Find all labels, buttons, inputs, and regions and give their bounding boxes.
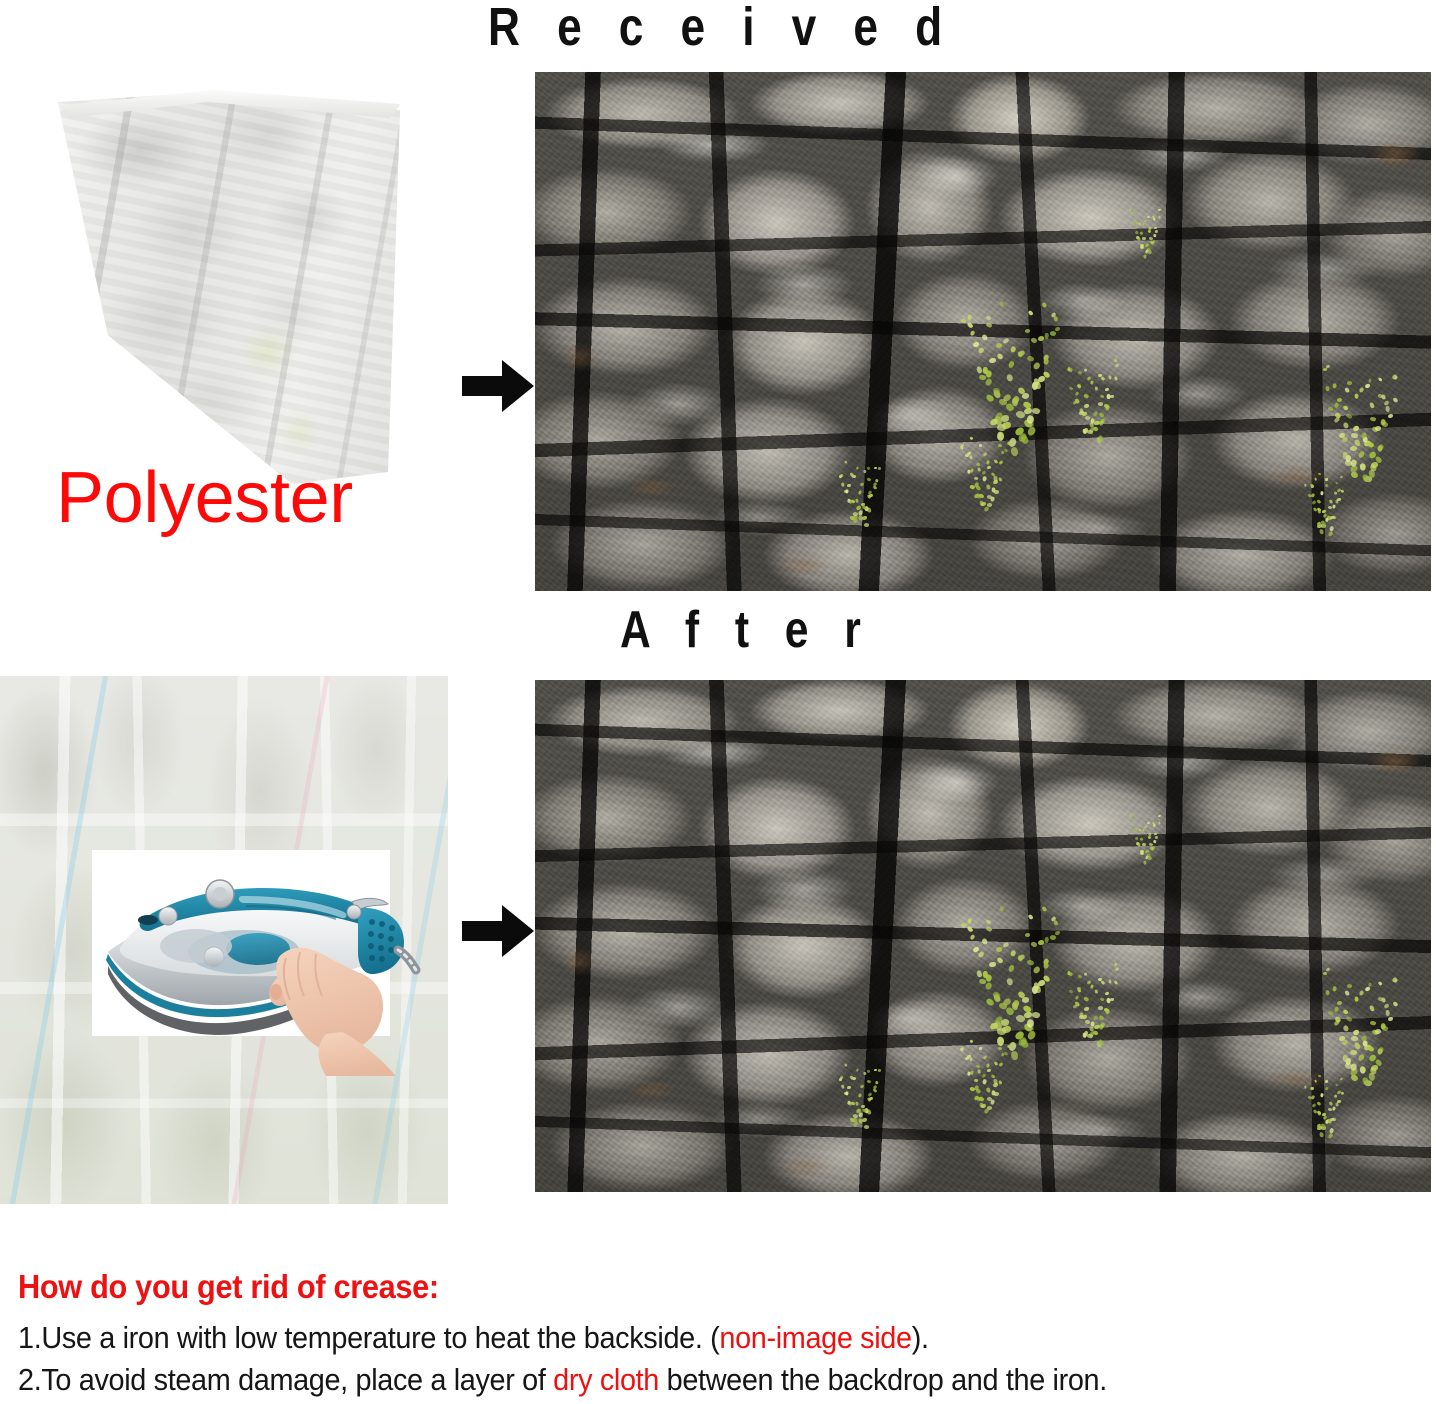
instruction-2-suffix: between the backdrop and the iron. [659, 1362, 1107, 1397]
rock-backdrop-received [535, 72, 1431, 591]
instruction-line-2: 2.To avoid steam damage, place a layer o… [18, 1362, 1329, 1398]
steam-iron-icon [86, 846, 416, 1076]
care-instructions: How do you get rid of crease: 1.Use a ir… [18, 1268, 1428, 1404]
fabric-crease-lines [20, 86, 420, 488]
right-arrow-icon [462, 358, 534, 414]
steam-iron-photo [92, 850, 390, 1036]
foliage-cluster [833, 453, 883, 521]
foliage-cluster [1315, 958, 1403, 1078]
foliage-cluster [833, 1056, 883, 1124]
foliage-cluster [1060, 956, 1121, 1039]
rock-foliage-layer-after [535, 680, 1431, 1192]
instruction-line-1: 1.Use a iron with low temperature to hea… [18, 1320, 1329, 1356]
instruction-1-prefix: 1.Use a iron with low temperature to hea… [18, 1320, 719, 1355]
foliage-cluster [956, 429, 1011, 504]
folded-fabric-image [20, 86, 420, 488]
instruction-2-prefix: 2.To avoid steam damage, place a layer o… [18, 1362, 553, 1397]
section-title-received: R e c e i v e d [488, 0, 955, 58]
material-label-polyester: Polyester [56, 462, 353, 534]
instruction-1-highlight: non-image side [719, 1320, 911, 1355]
infographic-canvas: R e c e i v e d Polyester A f t e r [0, 0, 1436, 1401]
instruction-2-highlight: dry cloth [553, 1362, 659, 1397]
instructions-heading: How do you get rid of crease: [18, 1268, 1329, 1306]
foliage-cluster [955, 892, 1065, 1042]
right-arrow-icon-bottom [462, 903, 534, 959]
foliage-cluster [1300, 1068, 1346, 1131]
foliage-cluster [956, 1032, 1011, 1107]
rock-backdrop-after [535, 680, 1431, 1192]
foliage-cluster [1315, 355, 1403, 475]
foliage-cluster [1127, 810, 1162, 858]
rock-foliage-layer [535, 72, 1431, 591]
foliage-cluster [1127, 204, 1162, 252]
foliage-cluster [1300, 466, 1346, 529]
section-title-after: A f t e r [620, 600, 873, 660]
instruction-1-suffix: ). [912, 1320, 929, 1355]
foliage-cluster [1060, 353, 1121, 436]
foliage-cluster [955, 288, 1065, 438]
